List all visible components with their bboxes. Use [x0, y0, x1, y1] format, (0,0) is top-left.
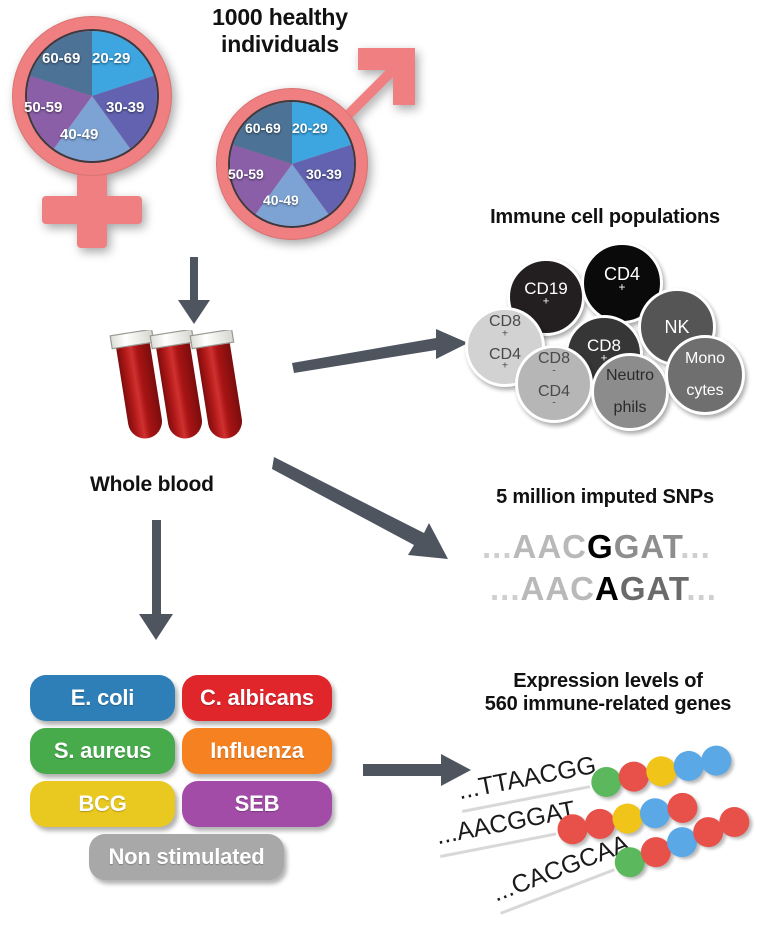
stimulus-seb[interactable]: SEB: [182, 781, 332, 827]
stimulus-c-albicans-label: C. albicans: [200, 685, 314, 711]
cell-cd8-negative-cd4-negative: CD8- CD4-: [515, 345, 593, 423]
cell-cd8-negative-cd4-negative-label: CD8- CD4-: [538, 351, 570, 416]
stimulus-seb-label: SEB: [235, 791, 280, 817]
expression-bead: [671, 748, 706, 783]
snps-title: 5 million imputed SNPs: [450, 486, 760, 509]
female-slice-label-40-49: 40-49: [60, 126, 98, 143]
expression-bead: [616, 759, 651, 794]
male-slice-label-50-59: 50-59: [228, 166, 264, 182]
snp-sequence-row-1: ...AACGGAT...: [482, 528, 711, 566]
expression-bead: [637, 796, 672, 831]
snp-row2-prefix-dots: ...: [490, 570, 521, 607]
arrow-blood-to-immune-cells: [290, 325, 470, 385]
female-slice-label-30-39: 30-39: [106, 99, 144, 116]
immune-cell-populations-title: Immune cell populations: [450, 206, 760, 229]
snp-row2-trail: GAT: [620, 570, 687, 607]
stimulus-s-aureus[interactable]: S. aureus: [30, 728, 175, 774]
stimuli-panel: E. coli C. albicans S. aureus Influenza …: [30, 675, 340, 895]
expression-bead: [665, 790, 700, 825]
arrow-cohort-to-blood-head: [178, 300, 210, 324]
arrow-blood-to-stimuli-head: [139, 614, 173, 640]
stimulus-non-stimulated-label: Non stimulated: [108, 844, 264, 870]
male-slice-label-20-29: 20-29: [292, 120, 328, 136]
snp-row1-prefix-dots: ...: [482, 528, 513, 565]
cell-nk-label: NK: [664, 318, 689, 336]
cell-cd4-positive-label: CD4+: [604, 265, 640, 302]
stimulus-e-coli-label: E. coli: [71, 685, 134, 711]
arrow-cohort-to-blood-shaft: [190, 257, 198, 305]
snp-row2-lead: AAC: [521, 570, 596, 607]
male-gender-symbol: 20-29 30-39 40-49 50-59 60-69: [210, 30, 425, 245]
female-slice-label-20-29: 20-29: [92, 50, 130, 67]
immune-cell-cluster: CD19+ CD4+ CD8+ CD4+ CD8+ NK CD8- CD4- N…: [455, 240, 765, 420]
figure-canvas: 1000 healthy individuals 20-29 30-39 40-…: [0, 0, 771, 922]
female-slice-label-50-59: 50-59: [24, 99, 62, 116]
stimulus-c-albicans[interactable]: C. albicans: [182, 675, 332, 721]
cell-neutrophils: Neutrophils: [591, 353, 669, 431]
male-slice-label-40-49: 40-49: [263, 192, 299, 208]
expression-strands: ...TTAACGG ...AACGGAT ...CACGCAA: [440, 740, 771, 922]
blood-tubes-svg: [105, 330, 265, 455]
cell-cd8-positive-cd4-positive-label: CD8+ CD4+: [489, 314, 521, 379]
male-slice-label-60-69: 60-69: [245, 120, 281, 136]
snp-row2-suffix-dots: ...: [686, 570, 717, 607]
expression-title: Expression levels of 560 immune-related …: [450, 670, 766, 716]
stimulus-bcg-label: BCG: [78, 791, 126, 817]
snp-row1-suffix-dots: ...: [680, 528, 711, 565]
cell-monocytes: Monocytes: [665, 335, 745, 415]
expression-title-line1: Expression levels of: [450, 670, 766, 693]
female-symbol-crossbar: [42, 196, 142, 224]
snp-row2-variant: A: [595, 570, 620, 607]
expression-bead: [699, 743, 734, 778]
stimulus-non-stimulated[interactable]: Non stimulated: [89, 834, 284, 880]
stimulus-s-aureus-label: S. aureus: [54, 738, 151, 764]
whole-blood-label: Whole blood: [90, 473, 214, 497]
snp-sequence-row-2: ...AACAGAT...: [490, 570, 717, 608]
blood-tubes: [105, 330, 265, 455]
snp-row1-lead: AAC: [513, 528, 588, 565]
male-slice-label-30-39: 30-39: [306, 166, 342, 182]
female-gender-symbol: 20-29 30-39 40-49 50-59 60-69: [0, 8, 210, 253]
arrow-blood-to-snps: [272, 455, 462, 565]
stimulus-e-coli[interactable]: E. coli: [30, 675, 175, 721]
arrow-blood-to-stimuli-shaft: [152, 520, 161, 620]
cell-neutrophils-label: Neutrophils: [606, 368, 654, 417]
cell-monocytes-label: Monocytes: [685, 351, 725, 400]
stimulus-bcg[interactable]: BCG: [30, 781, 175, 827]
cell-cd19-positive-label: CD19+: [524, 280, 567, 315]
stimulus-influenza[interactable]: Influenza: [182, 728, 332, 774]
expression-bead: [610, 801, 645, 836]
expression-title-line2: 560 immune-related genes: [450, 693, 766, 716]
female-slice-label-60-69: 60-69: [42, 50, 80, 67]
snp-row1-variant: G: [587, 528, 614, 565]
stimulus-influenza-label: Influenza: [210, 738, 304, 764]
expression-bead: [644, 754, 679, 789]
snp-row1-trail: GAT: [614, 528, 681, 565]
